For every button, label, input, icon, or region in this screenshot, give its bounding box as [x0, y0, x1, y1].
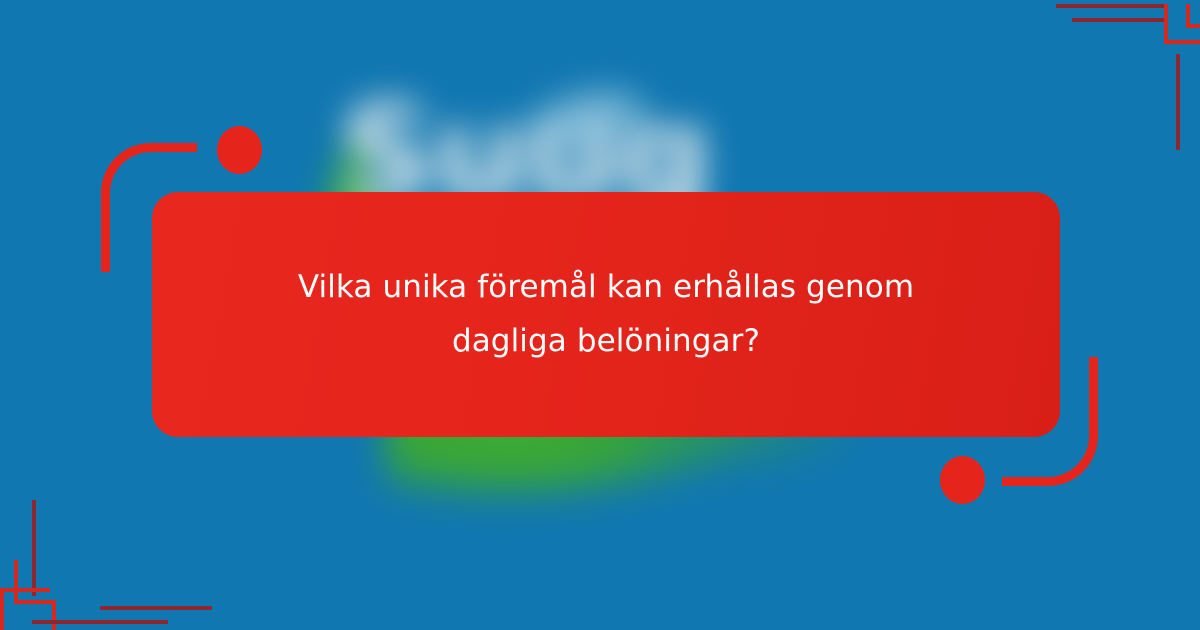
frame-bl-h1	[32, 620, 168, 624]
frame-bl-notch-top	[0, 588, 50, 592]
dot-bottom-right-icon	[940, 456, 985, 504]
frame-bl-v2	[32, 500, 36, 596]
frame-tr-v2	[1176, 54, 1180, 150]
frame-bl-notch-left	[0, 588, 4, 630]
frame-bl-h2	[100, 606, 212, 610]
frame-tr-v1	[1164, 4, 1168, 44]
screenshot-stage: Suug Vilka unika föremål kan erhållas ge…	[0, 0, 1200, 630]
frame-tr-h1	[1056, 4, 1168, 8]
frame-bl-step	[52, 600, 56, 630]
frame-tr-h3	[1164, 40, 1200, 44]
frame-tr-h2	[1072, 18, 1168, 22]
frame-tr-notch-bottom	[1186, 24, 1200, 28]
question-text: Vilka unika föremål kan erhållas genom d…	[246, 261, 966, 368]
frame-bl-h3	[14, 600, 56, 604]
question-card: Vilka unika föremål kan erhållas genom d…	[152, 192, 1060, 437]
dot-top-left-icon	[217, 126, 262, 174]
frame-bl-v1	[14, 560, 18, 604]
